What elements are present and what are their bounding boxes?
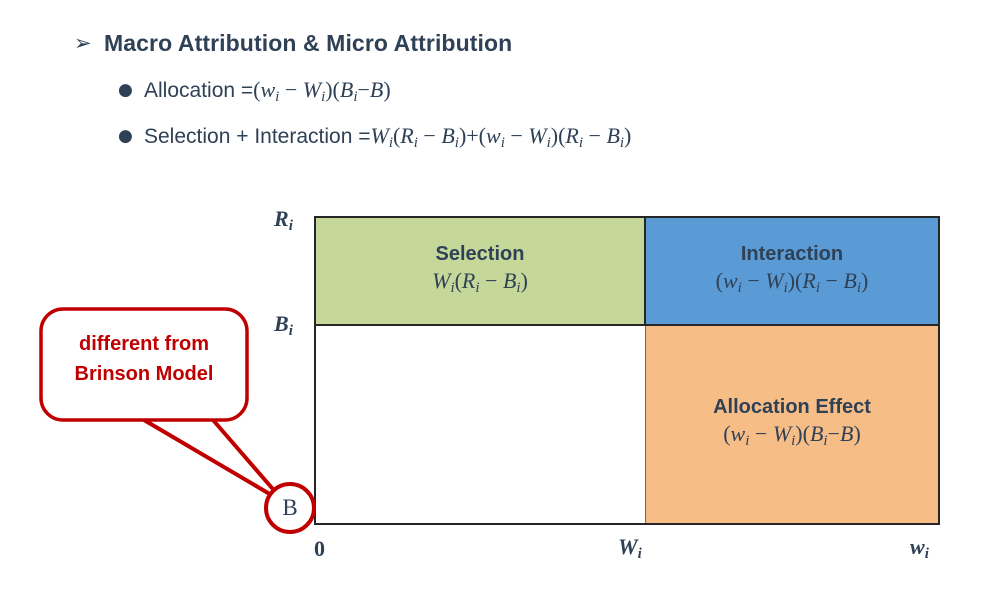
x-axis-tick-Wi: Wi <box>618 534 642 563</box>
selection-interaction-equation: Selection + Interaction =Wi(Ri − Bi)+(wi… <box>144 121 631 158</box>
list-item: ● Selection + Interaction =Wi(Ri − Bi)+(… <box>118 121 631 158</box>
dot-bullet-icon: ● <box>118 121 144 151</box>
quadrant-allocation-title: Allocation Effect <box>713 394 871 420</box>
heading-row: ➢ Macro Attribution & Micro Attribution <box>74 28 512 58</box>
quadrant-selection-formula: Wi(Ri − Bi) <box>432 267 528 302</box>
quadrant-interaction-formula: (wi − Wi)(Ri − Bi) <box>716 267 869 302</box>
slide-canvas: ➢ Macro Attribution & Micro Attribution … <box>0 0 997 605</box>
y-axis-tick-Ri: Ri <box>274 206 293 235</box>
x-axis-tick-zero: 0 <box>314 536 325 562</box>
selection-interaction-formula: Wi(Ri − Bi)+(wi − Wi)(Ri − Bi) <box>370 123 631 148</box>
allocation-label: Allocation = <box>144 79 253 102</box>
page-title: Macro Attribution & Micro Attribution <box>104 28 512 58</box>
quadrant-allocation-formula: (wi − Wi)(Bi−B) <box>723 420 861 455</box>
allocation-formula: (wi − Wi)(Bi−B) <box>253 77 391 102</box>
quadrant-empty <box>316 326 646 523</box>
callout-text: different from Brinson Model <box>47 329 241 389</box>
quadrant-interaction: Interaction (wi − Wi)(Ri − Bi) <box>646 218 938 326</box>
origin-label-B: B <box>266 484 314 532</box>
quadrant-interaction-title: Interaction <box>741 241 843 267</box>
quadrant-selection-title: Selection <box>436 241 525 267</box>
callout-tail <box>144 420 285 503</box>
attribution-quadrant-chart: Selection Wi(Ri − Bi) Interaction (wi − … <box>314 216 940 525</box>
list-item: ● Allocation =(wi − Wi)(Bi−B) <box>118 75 391 112</box>
quadrant-selection: Selection Wi(Ri − Bi) <box>316 218 646 326</box>
dot-bullet-icon: ● <box>118 75 144 105</box>
selection-interaction-label: Selection + Interaction = <box>144 125 370 148</box>
arrow-bullet-icon: ➢ <box>74 28 104 58</box>
allocation-equation: Allocation =(wi − Wi)(Bi−B) <box>144 75 391 112</box>
callout-line-2: Brinson Model <box>47 359 241 389</box>
y-axis-tick-Bi: Bi <box>274 311 293 340</box>
callout-line-1: different from <box>47 329 241 359</box>
quadrant-allocation-effect: Allocation Effect (wi − Wi)(Bi−B) <box>646 326 938 523</box>
x-axis-tick-wi: wi <box>910 534 929 563</box>
